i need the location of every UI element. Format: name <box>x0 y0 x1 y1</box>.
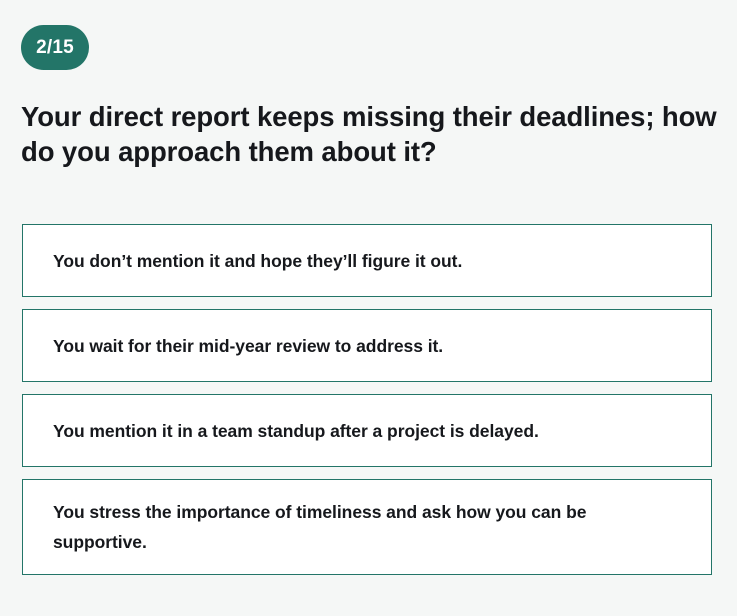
answer-option-1[interactable]: You don’t mention it and hope they’ll fi… <box>22 224 712 297</box>
answer-option-4[interactable]: You stress the importance of timeliness … <box>22 479 712 575</box>
question-heading: Your direct report keeps missing their d… <box>21 99 721 169</box>
answer-option-label: You mention it in a team standup after a… <box>53 416 681 446</box>
answer-option-label: You don’t mention it and hope they’ll fi… <box>53 246 681 276</box>
answer-option-label: You wait for their mid-year review to ad… <box>53 331 681 361</box>
answer-option-3[interactable]: You mention it in a team standup after a… <box>22 394 712 467</box>
quiz-page: 2/15 Your direct report keeps missing th… <box>0 0 737 616</box>
progress-badge: 2/15 <box>21 25 89 70</box>
progress-badge-label: 2/15 <box>36 38 74 57</box>
answer-option-2[interactable]: You wait for their mid-year review to ad… <box>22 309 712 382</box>
answer-options-list: You don’t mention it and hope they’ll fi… <box>22 224 712 575</box>
answer-option-label: You stress the importance of timeliness … <box>53 497 681 557</box>
